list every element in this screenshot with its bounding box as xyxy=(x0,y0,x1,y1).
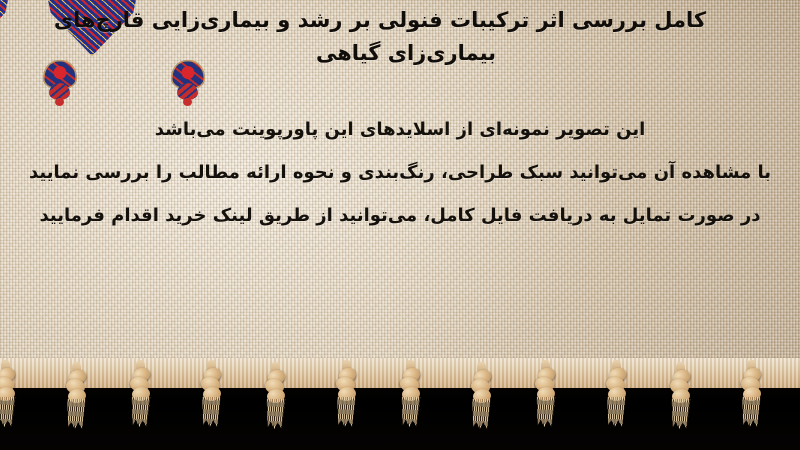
carpet-selvedge-band xyxy=(0,358,800,388)
carpet-background: کامل بررسی اثر ترکیبات فنولی بر رشد و بی… xyxy=(0,0,800,376)
body-line-2: با مشاهده آن می‌توانید سبک طراحی، رنگ‌بن… xyxy=(0,151,800,194)
body-line-1: این تصویر نمونه‌ای از اسلایدهای این پاور… xyxy=(0,108,800,151)
presentation-slide: کامل بررسی اثر ترکیبات فنولی بر رشد و بی… xyxy=(0,0,800,450)
title-line-2: بیماری‌زای گیاهی xyxy=(26,37,786,70)
body-line-3: در صورت تمایل به دریافت فایل کامل، می‌تو… xyxy=(0,194,800,237)
slide-text-layer: کامل بررسی اثر ترکیبات فنولی بر رشد و بی… xyxy=(0,0,800,376)
title-line-1: کامل بررسی اثر ترکیبات فنولی بر رشد و بی… xyxy=(26,4,734,37)
slide-title: کامل بررسی اثر ترکیبات فنولی بر رشد و بی… xyxy=(26,4,786,70)
slide-body: این تصویر نمونه‌ای از اسلایدهای این پاور… xyxy=(0,108,800,237)
